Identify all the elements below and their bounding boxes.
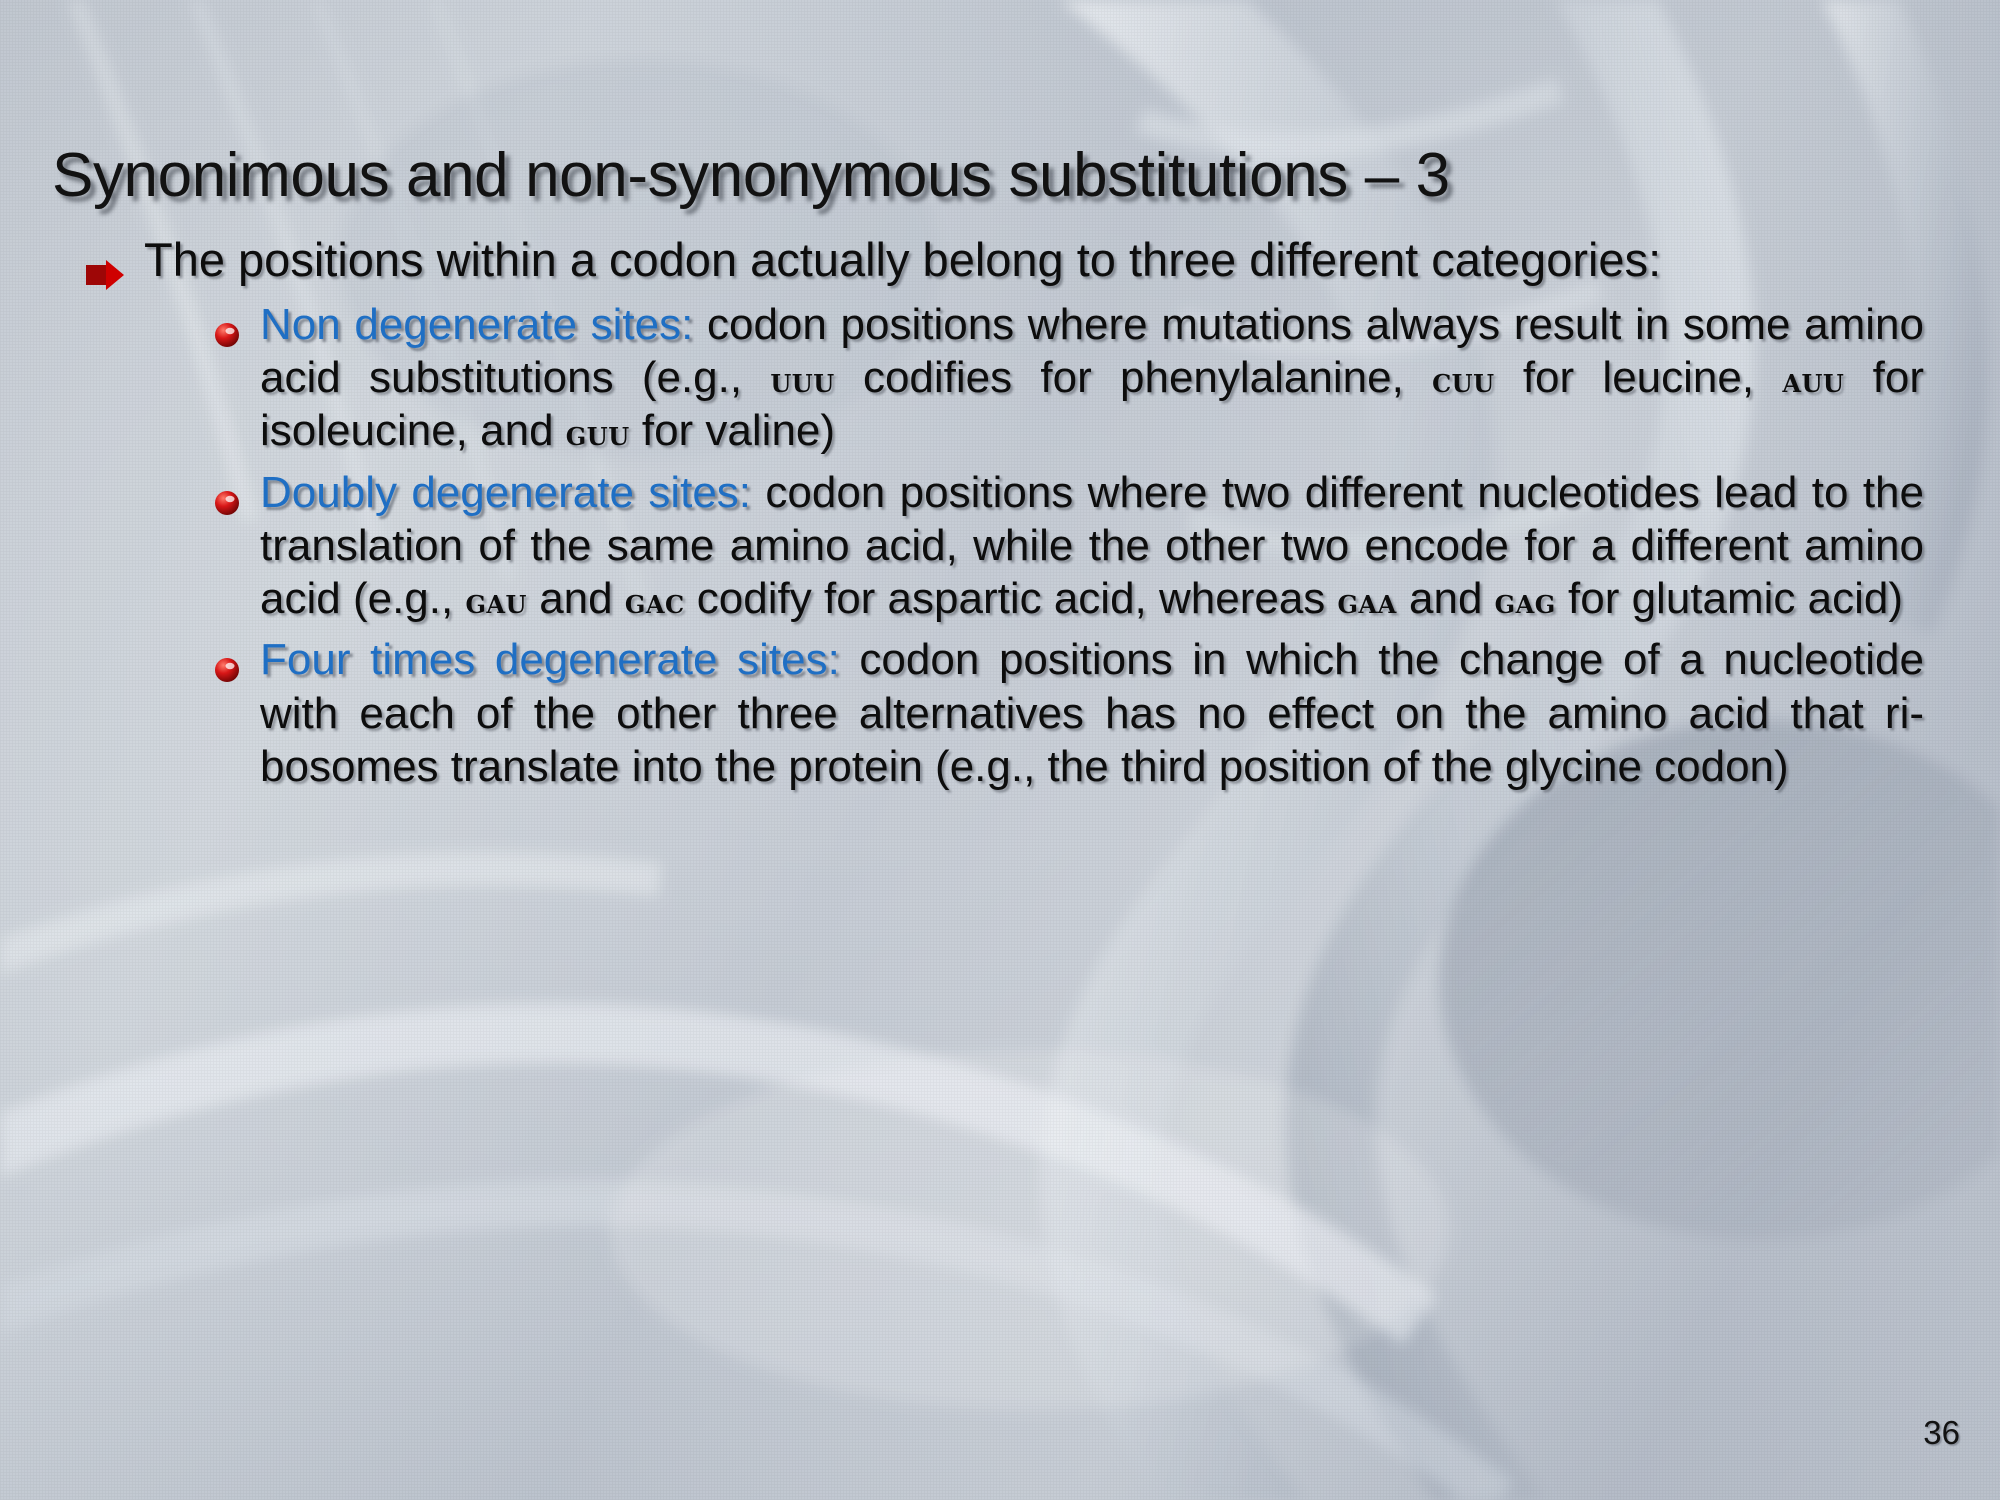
red-sphere-bullet-icon	[214, 657, 240, 683]
bullet-text-four-times-degenerate-sites: Four times degenerate sites: codon posit…	[260, 633, 1924, 793]
term-label-doubly-degenerate-sites: Doubly degenerate sites:	[260, 468, 751, 517]
text-segment: for valine)	[630, 406, 835, 455]
bullet-marker-level1	[86, 232, 144, 290]
slide-body: The positions within a codon actually be…	[86, 232, 1924, 793]
codon-gac: GAC	[625, 582, 685, 622]
term-label-four-times-degenerate-sites: Four times degenerate sites:	[260, 635, 840, 684]
red-arrow-bullet-icon	[86, 260, 124, 290]
bullet-item-non-degenerate-sites: Non degenerate sites: codon positions wh…	[86, 298, 1924, 458]
text-segment: for leucine,	[1495, 353, 1783, 402]
text-segment: and	[527, 574, 625, 623]
bullet-item-level1: The positions within a codon actually be…	[86, 232, 1924, 290]
bullet-marker-level2	[214, 466, 260, 516]
slide-page-number: 36	[1923, 1414, 1960, 1452]
presentation-slide: Synonimous and non-synonymous substituti…	[0, 0, 2000, 1500]
bullet-marker-level2	[214, 298, 260, 348]
text-segment: and	[1397, 574, 1495, 623]
bullet-item-doubly-degenerate-sites: Doubly degenerate sites: codon positions…	[86, 466, 1924, 626]
bullet-item-four-times-degenerate-sites: Four times degenerate sites: codon posit…	[86, 633, 1924, 793]
bullet-text-non-degenerate-sites: Non degenerate sites: codon positions wh…	[260, 298, 1924, 458]
red-sphere-bullet-icon	[214, 490, 240, 516]
red-sphere-bullet-icon	[214, 322, 240, 348]
codon-gaa: GAA	[1338, 582, 1397, 622]
codon-cuu: CUU	[1432, 361, 1494, 401]
slide-title: Synonimous and non-synonymous substituti…	[52, 140, 1952, 211]
codon-gau: GAU	[465, 582, 527, 622]
codon-guu: GUU	[566, 414, 630, 454]
codon-uuu: UUU	[770, 361, 834, 401]
text-segment: codifies for phenylalanine,	[835, 353, 1432, 402]
bullet-text-level1: The positions within a codon actually be…	[144, 232, 1924, 287]
codon-auu: AUU	[1782, 361, 1844, 401]
text-segment: for glutamic acid)	[1556, 574, 1903, 623]
codon-gag: GAG	[1495, 582, 1556, 622]
bullet-text-doubly-degenerate-sites: Doubly degenerate sites: codon positions…	[260, 466, 1924, 626]
term-label-non-degenerate-sites: Non degenerate sites:	[260, 300, 693, 349]
text-segment: codify for aspartic acid, whereas	[685, 574, 1338, 623]
bullet-marker-level2	[214, 633, 260, 683]
